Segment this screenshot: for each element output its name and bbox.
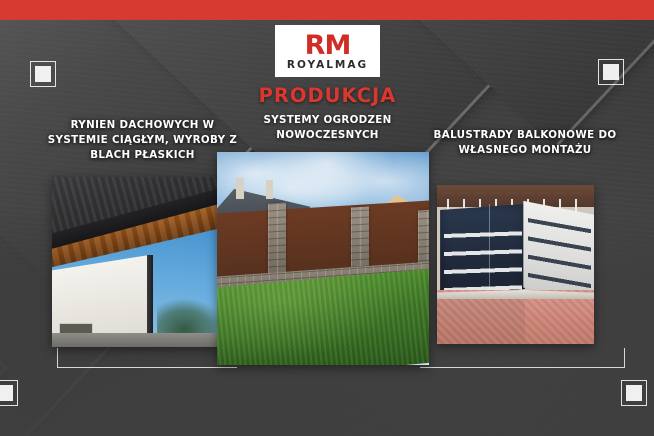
frame-rule-left — [57, 348, 237, 368]
roof-gutter-photo-image — [52, 177, 222, 347]
chimney-right — [266, 180, 274, 199]
square-ornament-bottom-left — [0, 380, 18, 406]
top-accent-bar — [0, 0, 654, 20]
sky-backdrop — [217, 152, 429, 365]
sky-backdrop — [52, 177, 222, 347]
ground-strip — [52, 333, 222, 347]
headline-fences: SYSTEMY OGRODZEN NOWOCZESNYCH — [245, 113, 410, 144]
logo-monogram: RM — [305, 32, 351, 59]
modern-fence-photo[interactable] — [217, 152, 429, 365]
headline-gutters: RYNIEN DACHOWYCH W SYSTEMIE CIĄGŁYM, WYR… — [40, 118, 245, 163]
downpipe — [147, 255, 153, 343]
royalmag-logo[interactable]: RM ROYALMAG — [275, 25, 380, 77]
chimney-left — [236, 178, 244, 199]
balcony-scene — [437, 185, 594, 344]
square-ornament-fill — [603, 64, 619, 80]
dark-balustrade-panel — [440, 204, 525, 303]
square-ornament-fill — [0, 385, 13, 401]
royalmag-advertising-banner: RM ROYALMAG RYNIEN DACHOWYCH W SYSTEMIE … — [0, 0, 654, 436]
square-ornament-top-right — [598, 59, 624, 85]
square-ornament-bottom-right — [621, 380, 647, 406]
headline-balustrades: BALUSTRADY BALKONOWE DO WŁASNEGO MONTAŻU — [425, 128, 625, 158]
roof-gutter-photo[interactable] — [52, 177, 222, 347]
square-ornament-fill — [35, 66, 51, 82]
headline-produkcja: PRODUKCJA — [245, 86, 410, 106]
logo-wordmark: ROYALMAG — [287, 60, 368, 71]
balcony-balustrade-photo[interactable] — [437, 185, 594, 344]
frame-rule-right — [420, 348, 625, 368]
white-balustrade-panel — [523, 201, 594, 300]
modern-fence-photo-image — [217, 152, 429, 365]
corner-post — [489, 204, 490, 303]
square-ornament-top-left — [30, 61, 56, 87]
square-ornament-fill — [626, 385, 642, 401]
balcony-balustrade-photo-image — [437, 185, 594, 344]
